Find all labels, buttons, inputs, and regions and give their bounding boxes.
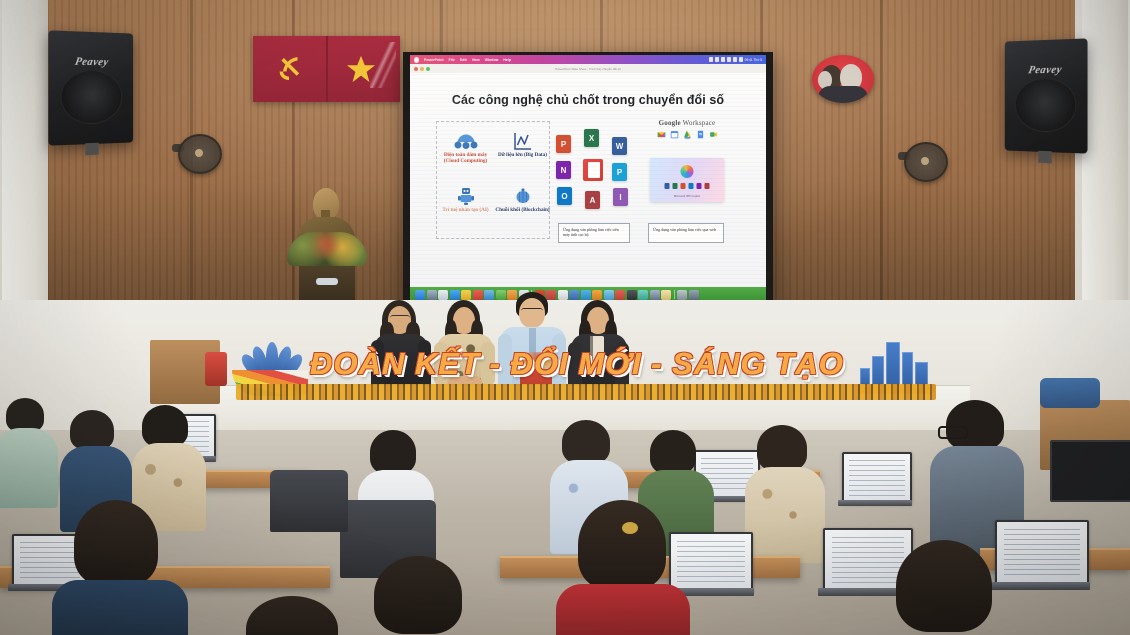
infopath-icon: I [613,188,628,206]
copilot-card: Microsoft 365 Copilot [650,158,724,202]
macos-menubar[interactable]: PowerPoint File Edit View Window Help 09… [410,55,766,64]
menu-help[interactable]: Help [503,58,511,62]
volume-icon[interactable] [721,57,725,62]
technology-grid: Điện toán đám mây (Cloud Computing) Dữ l… [436,121,550,239]
dock-launchpad-icon[interactable] [427,290,437,300]
audience-person-1 [0,398,60,518]
chair-2 [270,470,348,532]
search-icon[interactable] [733,57,737,62]
tech-label-blockchain: Chuỗi khối (Blockchain) [494,207,551,213]
flag-highlight [370,42,396,88]
copilot-icon [681,165,694,178]
microsoft-office-icons: P X W N P O A I [556,129,628,209]
speaker-brand-logo: Peavey [74,56,110,69]
glasses-icon [938,426,968,439]
projection-screen: PowerPoint File Edit View Window Help 09… [403,52,773,305]
national-flag [326,36,401,102]
publisher-icon: P [612,163,627,181]
bigdata-icon [494,130,551,152]
dock-preview-icon[interactable] [638,290,648,300]
dock-trash-icon[interactable] [689,290,699,300]
copilot-app-row [665,183,710,189]
wall-fan-right [898,140,944,180]
bluetooth-icon[interactable] [715,57,719,62]
hammer-sickle-icon [272,52,306,86]
event-banner: ĐOÀN KẾT - ĐỔI MỚI - SÁNG TẠO [236,340,936,400]
glasses-icon [521,308,543,314]
workspace-wordmark: Workspace [683,119,716,127]
tech-label-cloud: Điện toán đám mây (Cloud Computing) [437,152,494,165]
menubar-clock: 09:41 Thứ 5 [745,58,762,62]
menu-edit[interactable]: Edit [460,58,467,62]
dock-separator-2 [674,290,675,299]
sunflower-border [236,384,936,400]
speaker-mount [85,143,98,156]
workshop-photo: Peavey Peavey PowerPoint File Edit View … [0,0,1130,635]
audience-person-7 [745,425,823,560]
onenote-icon: N [556,161,571,179]
caption-local-office: Ứng dụng văn phòng làm việc trên máy tín… [558,223,630,243]
audience-front-5 [236,596,356,635]
google-wordmark: Google [659,119,681,127]
flag-board [253,36,400,102]
tech-cell-ai: Trí tuệ nhân tạo (AI) [437,185,494,213]
battery-icon[interactable] [727,57,731,62]
fire-extinguisher [205,352,227,386]
speaker-brand-logo: Peavey [1027,64,1063,77]
google-workspace-title: Google Workspace [642,119,732,127]
audience-front-2 [360,556,480,635]
dock-notes-icon[interactable] [461,290,471,300]
audience-front-4 [880,540,1010,635]
party-flag [253,36,326,102]
wifi-icon[interactable] [709,57,713,62]
ai-robot-icon [437,185,494,207]
dock-downloads-icon[interactable] [677,290,687,300]
office-logo-icon [583,159,603,181]
document-title: PowerPoint Slide Show - Trình bày chuyển… [410,67,766,71]
audience-front-1 [52,500,182,635]
menu-view[interactable]: View [472,58,480,62]
tech-label-bigdata: Dữ liệu lớn (Big Data) [494,152,551,158]
slide-title: Các công nghệ chủ chốt trong chuyển đổi … [410,93,766,107]
calendar-icon [670,130,679,139]
ho-chi-minh-bust [283,170,371,305]
google-workspace-block: Google Workspace [642,119,732,139]
hair-clip-icon [622,522,638,534]
cloud-icon [437,130,494,152]
dock-files-icon[interactable] [661,290,671,300]
control-center-icon[interactable] [739,57,743,62]
banner-slogan: ĐOÀN KẾT - ĐỔI MỚI - SÁNG TẠO [310,346,844,382]
laptop-row1-c[interactable] [838,452,912,508]
dock-photos-icon[interactable] [484,290,494,300]
left-pillar [2,0,48,332]
right-pillar [1082,0,1128,332]
copilot-label: Microsoft 365 Copilot [650,194,724,198]
excel-icon: X [584,129,599,147]
word-icon: W [612,137,627,155]
banner-text-wrap: ĐOÀN KẾT - ĐỔI MỚI - SÁNG TẠO [310,344,866,384]
side-monitor [1050,440,1130,502]
outlook-icon: O [557,187,572,205]
dock-music-icon[interactable] [473,290,483,300]
glasses-icon [390,315,410,321]
dock-zoom-icon[interactable] [604,290,614,300]
caption-web-office: Ứng dụng văn phòng làm việc qua web [648,223,724,243]
apple-menu-icon[interactable] [414,57,419,63]
dock-terminal-icon[interactable] [627,290,637,300]
dock-teams-icon[interactable] [581,290,591,300]
wall-fan-left [172,132,218,172]
tech-label-ai: Trí tuệ nhân tạo (AI) [437,207,494,213]
dock-mail-icon[interactable] [450,290,460,300]
blockchain-icon [494,185,551,207]
speaker-cone [1015,78,1077,133]
docs-icon [696,130,705,139]
speaker-mount [1038,151,1051,164]
drive-icon [683,130,692,139]
wall-speaker-left: Peavey [48,30,133,145]
google-app-icons [642,130,732,139]
menubar-status-area[interactable]: 09:41 Thứ 5 [709,57,762,62]
meet-icon [709,130,718,139]
access-icon: A [585,191,600,209]
dock-settings-icon[interactable] [650,290,660,300]
tech-cell-bigdata: Dữ liệu lớn (Big Data) [494,130,551,158]
dock-zalo-icon[interactable] [592,290,602,300]
gmail-icon [657,130,666,139]
menubar-app-name[interactable]: PowerPoint [424,58,444,62]
dock-pdf-icon[interactable] [615,290,625,300]
tech-cell-cloud: Điện toán đám mây (Cloud Computing) [437,130,494,165]
tech-cell-blockchain: Chuỗi khối (Blockchain) [494,185,551,213]
wall-speaker-right: Peavey [1005,38,1088,153]
marx-lenin-portrait [812,55,874,103]
speaker-cone [61,70,123,125]
dock-word-icon[interactable] [569,290,579,300]
dock-finder-icon[interactable] [415,290,425,300]
dock-safari-icon[interactable] [438,290,448,300]
powerpoint-icon: P [556,135,571,153]
menu-file[interactable]: File [449,58,455,62]
menu-window[interactable]: Window [485,58,499,62]
audience-front-3 [560,500,686,635]
slide-canvas: Các công nghệ chủ chốt trong chuyển đổi … [410,73,766,287]
stacked-chairs [1040,378,1100,408]
